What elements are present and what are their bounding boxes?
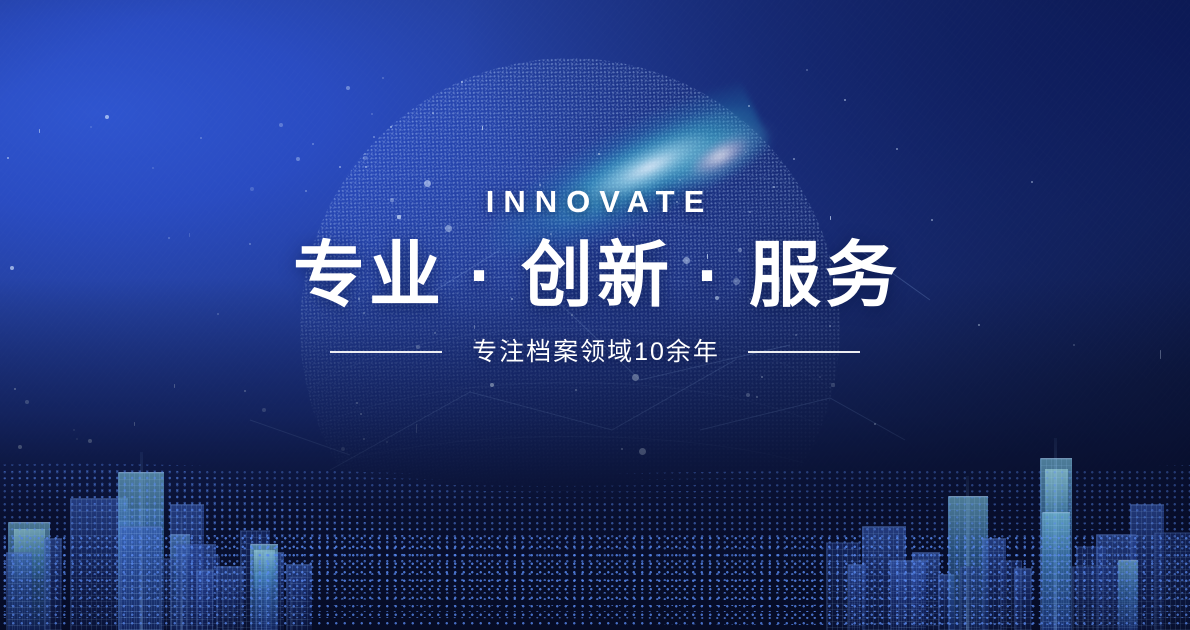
hero-banner: INNOVATE 专业 · 创新 · 服务 专注档案领域10余年 [0, 0, 1190, 630]
vignette-overlay [0, 0, 1190, 630]
